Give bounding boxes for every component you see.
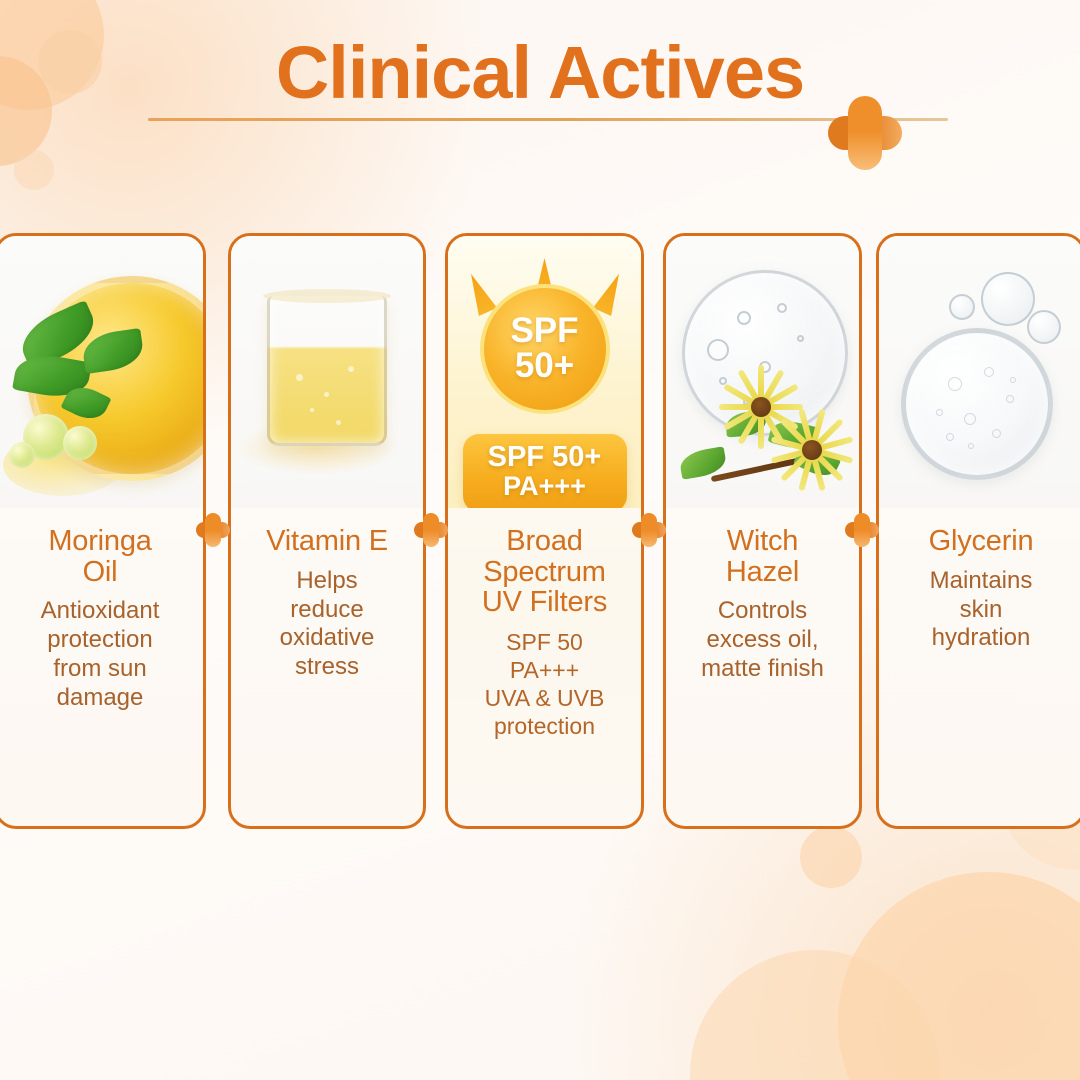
actives-card-rail: Moringa Oil Antioxidant protection from … [0, 233, 1080, 829]
active-card-glycerin[interactable]: Glycerin Maintains skin hydration [876, 233, 1080, 829]
sun-core-label: SPF 50+ [480, 284, 610, 414]
oil-droplet [63, 426, 97, 460]
card-description-line: reduce [241, 596, 413, 625]
witch-hazel-flower [776, 414, 848, 486]
card-title: Glycerin [889, 526, 1073, 557]
witch-hazel-image [666, 236, 859, 508]
card-description-line: matte finish [676, 655, 849, 684]
card-description-line: hydration [889, 624, 1073, 653]
infographic-root: Clinical Actives [0, 0, 1080, 1080]
water-droplet [981, 272, 1035, 326]
card-description: SPF 50 PA+++ UVA & UVB protection [458, 628, 631, 740]
bubble [348, 366, 354, 372]
plus-icon-vertical-bar [854, 513, 870, 547]
page-title: Clinical Actives [0, 34, 1080, 112]
card-description-line: damage [7, 684, 193, 713]
card-description-line: UVA & UVB [458, 684, 631, 712]
beaker-icon [267, 296, 387, 446]
connector-plus-icon [196, 513, 230, 547]
card-title-line: Oil [7, 557, 193, 588]
vitamin-e-image [231, 236, 423, 508]
card-description-line: Antioxidant [7, 597, 193, 626]
card-title-line: Vitamin E [241, 526, 413, 557]
card-description-line: protection [7, 626, 193, 655]
spf-badge-line2: PA+++ [463, 472, 627, 502]
connector-plus-icon [632, 513, 666, 547]
card-title-line: Broad [458, 526, 631, 557]
water-droplet [1027, 310, 1061, 344]
card-description-line: PA+++ [458, 656, 631, 684]
bubble [296, 374, 303, 381]
card-description: Helps reduce oxidative stress [241, 567, 413, 682]
spf-badge-image: SPF 50+ SPF 50+ PA+++ [448, 236, 641, 508]
oil-droplet [9, 442, 35, 468]
card-title: Vitamin E [241, 526, 413, 557]
card-description-line: protection [458, 712, 631, 740]
card-title-line: Glycerin [889, 526, 1073, 557]
card-title: Moringa Oil [7, 526, 193, 587]
glycerin-image [879, 236, 1080, 508]
moringa-oil-image [0, 236, 203, 508]
card-description-line: from sun [7, 655, 193, 684]
bubble [336, 420, 341, 425]
card-body: Moringa Oil Antioxidant protection from … [0, 508, 203, 826]
card-body: Broad Spectrum UV Filters SPF 50 PA+++ U… [448, 508, 641, 826]
card-title: Broad Spectrum UV Filters [458, 526, 631, 618]
card-description: Maintains skin hydration [889, 567, 1073, 653]
active-card-vitamin-e[interactable]: Vitamin E Helps reduce oxidative stress [228, 233, 426, 829]
card-description-line: SPF 50 [458, 628, 631, 656]
card-description-line: stress [241, 653, 413, 682]
card-description-line: oxidative [241, 624, 413, 653]
card-title-line: Witch [676, 526, 849, 557]
card-description-line: excess oil, [676, 626, 849, 655]
card-title-line: Hazel [676, 557, 849, 588]
active-card-broad-spectrum-uv-filters[interactable]: SPF 50+ SPF 50+ PA+++ Broad Spectrum UV … [445, 233, 644, 829]
card-title-line: UV Filters [458, 587, 631, 618]
card-description-line: skin [889, 596, 1073, 625]
bubble [707, 339, 729, 361]
sun-icon: SPF 50+ [454, 258, 636, 440]
plus-icon-vertical-bar [641, 513, 657, 547]
plus-icon-vertical-bar [423, 513, 439, 547]
active-card-witch-hazel[interactable]: Witch Hazel Controls excess oil, matte f… [663, 233, 862, 829]
card-description: Antioxidant protection from sun damage [7, 597, 193, 712]
card-description-line: Controls [676, 597, 849, 626]
bubble [310, 408, 314, 412]
bubble [737, 311, 751, 325]
card-title-line: Moringa [7, 526, 193, 557]
bubble [797, 335, 804, 342]
card-body: Witch Hazel Controls excess oil, matte f… [666, 508, 859, 826]
card-body: Glycerin Maintains skin hydration [879, 508, 1080, 826]
card-body: Vitamin E Helps reduce oxidative stress [231, 508, 423, 826]
spf-sun-line2: 50+ [515, 348, 574, 385]
spf-pa-badge: SPF 50+ PA+++ [463, 434, 627, 508]
bubble [324, 392, 329, 397]
plus-icon-vertical-bar [205, 513, 221, 547]
spf-sun-line1: SPF [510, 313, 578, 348]
card-description-line: Helps [241, 567, 413, 596]
plus-icon [828, 96, 902, 170]
card-description-line: Maintains [889, 567, 1073, 596]
connector-plus-icon [414, 513, 448, 547]
header: Clinical Actives [0, 34, 1080, 112]
card-title-line: Spectrum [458, 557, 631, 588]
active-card-moringa-oil[interactable]: Moringa Oil Antioxidant protection from … [0, 233, 206, 829]
bubble [777, 303, 787, 313]
water-droplet [949, 294, 975, 320]
plus-icon-vertical-bar [848, 96, 882, 170]
spf-badge-line1: SPF 50+ [463, 442, 627, 472]
card-description: Controls excess oil, matte finish [676, 597, 849, 683]
card-title: Witch Hazel [676, 526, 849, 587]
gel-dish [901, 328, 1053, 480]
connector-plus-icon [845, 513, 879, 547]
